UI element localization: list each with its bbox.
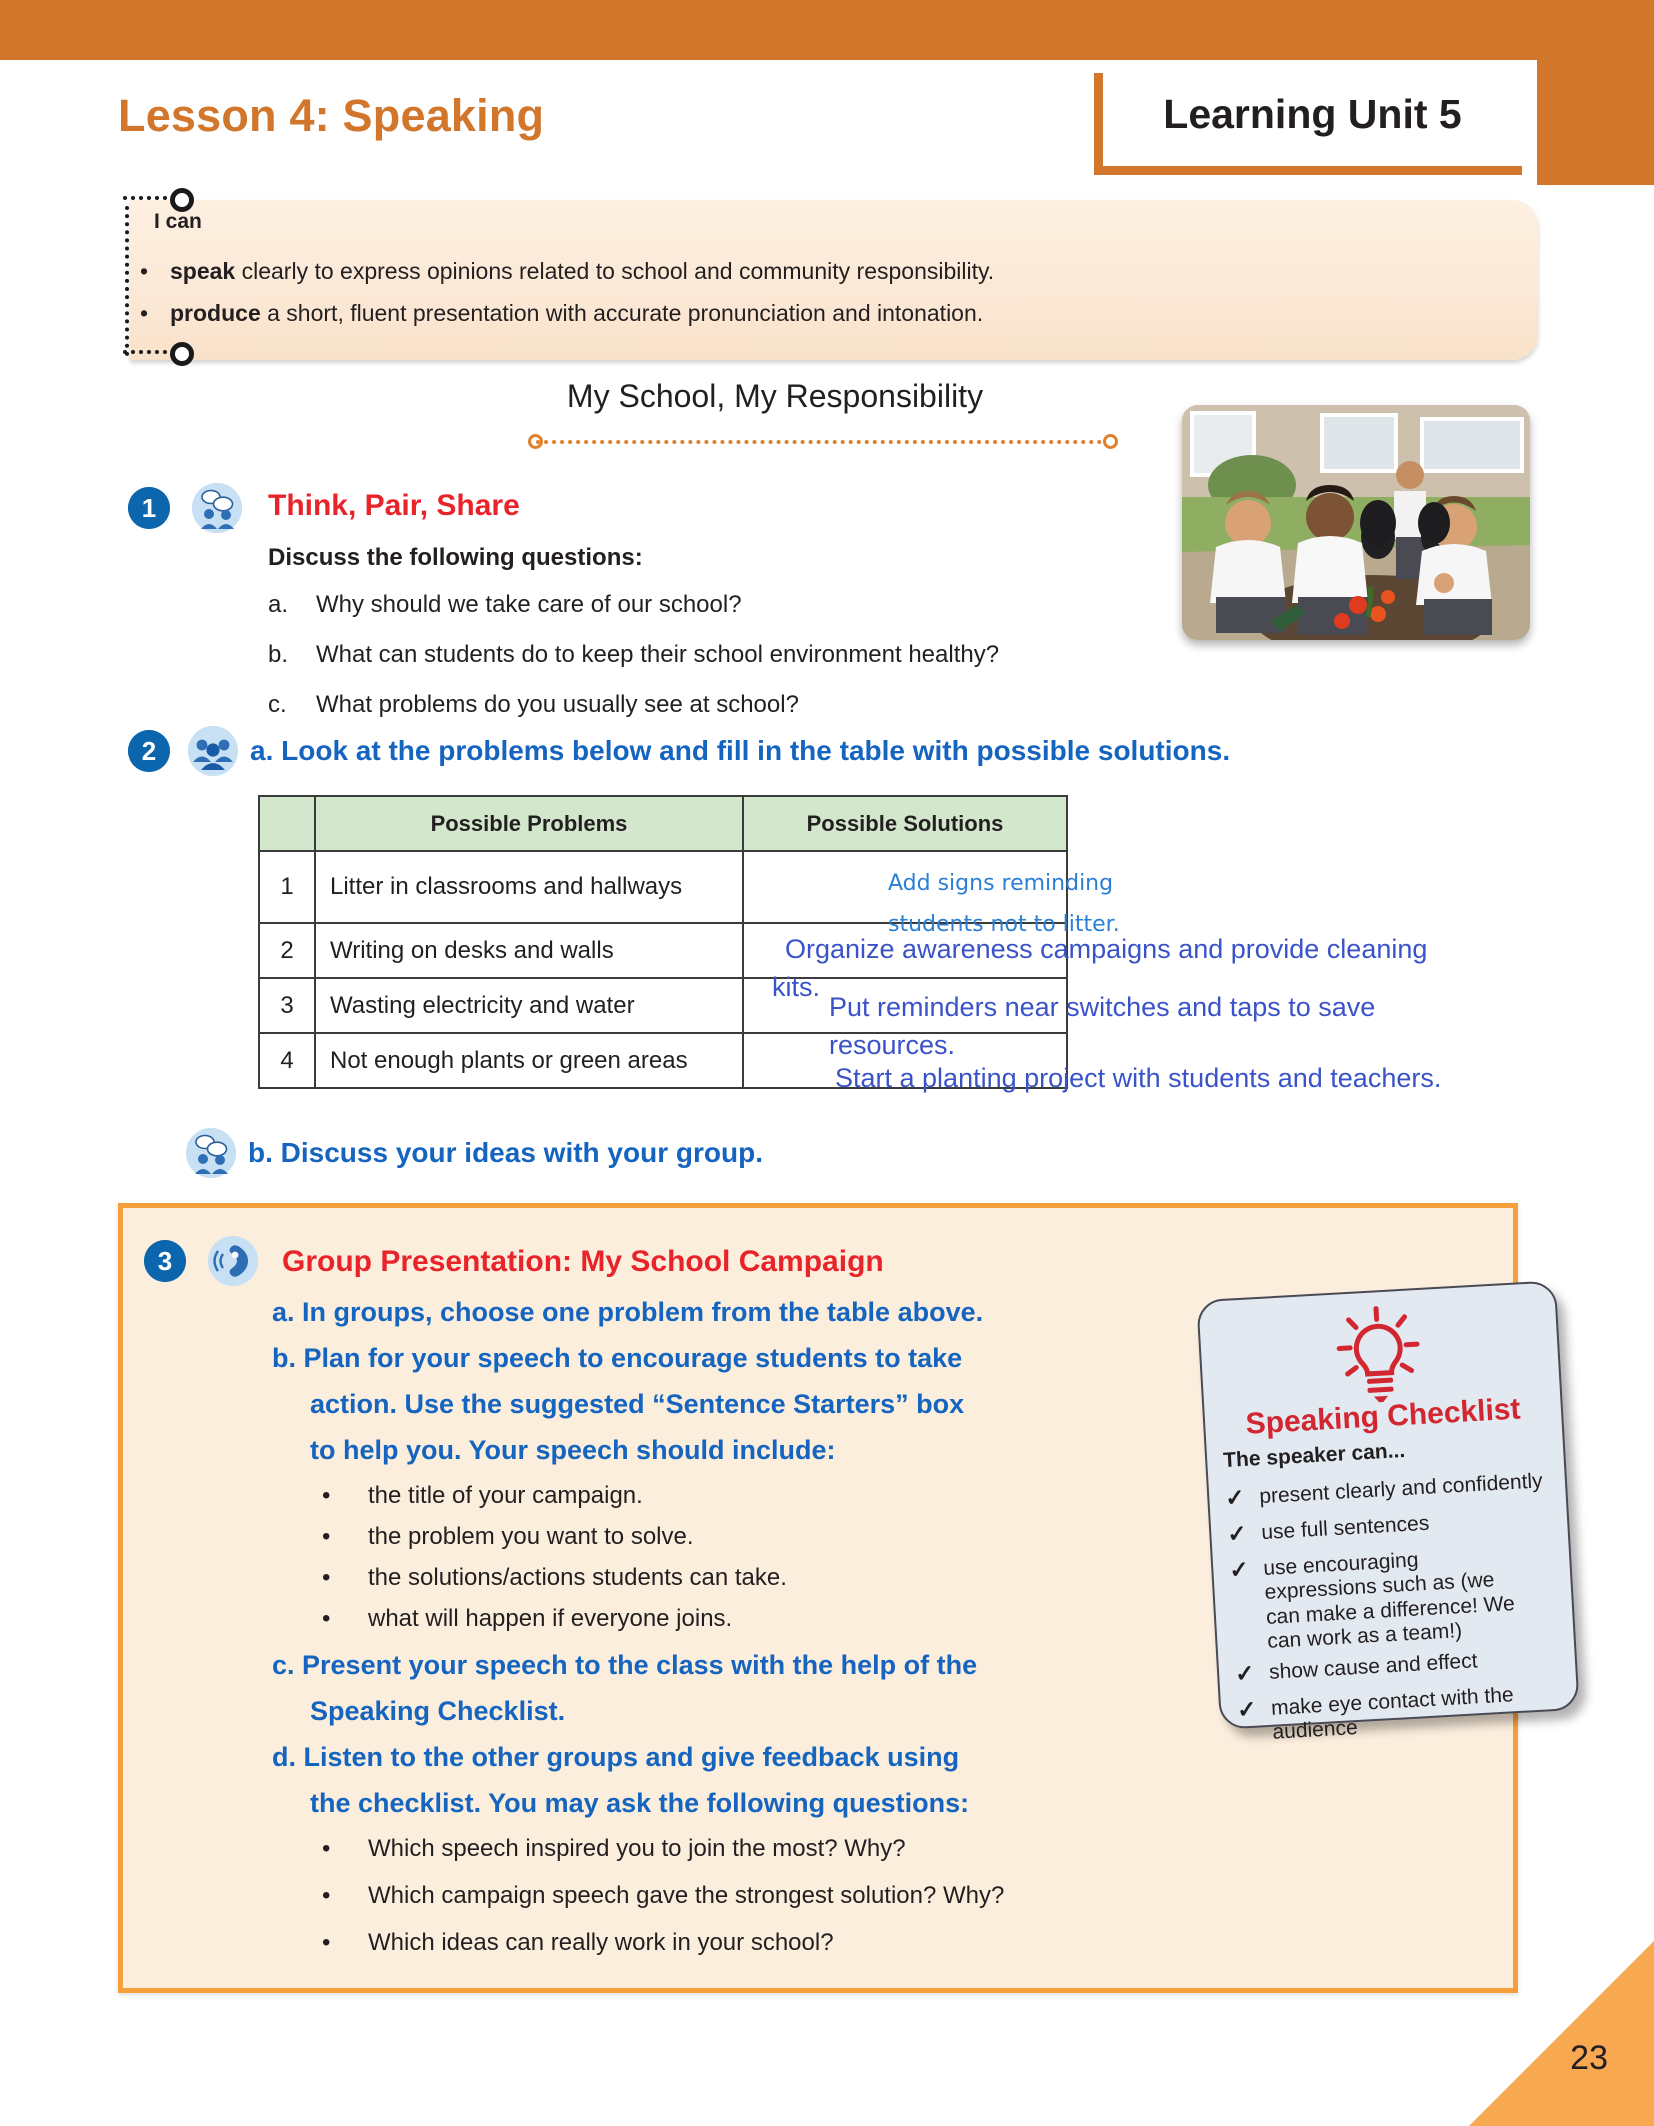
pair-discussion-icon bbox=[192, 483, 242, 533]
learning-unit-label: Learning Unit 5 bbox=[1103, 91, 1522, 138]
activity-3-bullet-b-0: the title of your campaign. bbox=[368, 1482, 643, 1510]
row-3-problem: Wasting electricity and water bbox=[315, 978, 743, 1033]
lightbulb-glyph bbox=[1311, 1303, 1446, 1406]
i-can-top-dotted-border bbox=[123, 196, 175, 200]
lightbulb-icon bbox=[1311, 1303, 1446, 1406]
row-1-index: 1 bbox=[259, 851, 315, 923]
bullet-glyph: • bbox=[322, 1882, 330, 1910]
question-letter-a: a. bbox=[268, 591, 288, 619]
question-text-c: What problems do you usually see at scho… bbox=[316, 691, 799, 719]
question-text-b: What can students do to keep their schoo… bbox=[316, 641, 999, 669]
bullet-glyph: • bbox=[322, 1564, 330, 1592]
activity-3-item-d-line-1: d. Listen to the other groups and give f… bbox=[272, 1742, 959, 1773]
activity-2-heading-a: a. Look at the problems below and fill i… bbox=[250, 735, 1230, 767]
checklist-item-0[interactable]: ✓ present clearly and confidently bbox=[1225, 1469, 1556, 1512]
speaking-checklist-card: Speaking Checklist The speaker can... ✓ … bbox=[1196, 1280, 1579, 1729]
photo-illustration bbox=[1182, 405, 1530, 640]
bullet-glyph: • bbox=[322, 1482, 330, 1510]
row-3-solution-cell[interactable] bbox=[743, 978, 1067, 1033]
table-row: 1 Litter in classrooms and hallways bbox=[259, 851, 1067, 923]
table-header-index bbox=[259, 796, 315, 851]
activity-1-heading: Think, Pair, Share bbox=[268, 489, 520, 523]
bullet-glyph: • bbox=[322, 1605, 330, 1633]
row-2-problem: Writing on desks and walls bbox=[315, 923, 743, 978]
activity-3-item-b-line-2: action. Use the suggested “Sentence Star… bbox=[310, 1389, 964, 1420]
table-header-problems: Possible Problems bbox=[315, 796, 743, 851]
group-icon bbox=[188, 726, 238, 776]
footer-corner-decoration bbox=[1469, 1941, 1654, 2126]
learning-unit-badge: Learning Unit 5 bbox=[1094, 73, 1522, 175]
checklist-item-0-label: present clearly and confidently bbox=[1225, 1469, 1556, 1512]
activity-1-number-badge: 1 bbox=[128, 487, 170, 529]
i-can-item-1-rest: a short, fluent presentation with accura… bbox=[261, 300, 983, 326]
checklist-item-1-label: use full sentences bbox=[1227, 1505, 1558, 1548]
i-can-bottom-ring-icon bbox=[170, 342, 194, 366]
question-letter-b: b. bbox=[268, 641, 288, 669]
activity-3-number-badge: 3 bbox=[144, 1240, 186, 1282]
table-header-row: Possible Problems Possible Solutions bbox=[259, 796, 1067, 851]
i-can-left-dotted-border bbox=[125, 206, 129, 356]
question-letter-c: c. bbox=[268, 691, 287, 719]
table-header-solutions: Possible Solutions bbox=[743, 796, 1067, 851]
activity-3-item-c-line-2: Speaking Checklist. bbox=[310, 1696, 565, 1727]
activity-3-item-a: a. In groups, choose one problem from th… bbox=[272, 1297, 983, 1328]
activity-3-bullet-d-1: Which campaign speech gave the strongest… bbox=[368, 1882, 1004, 1910]
activity-2-heading-b-bold: b. Discuss your ideas bbox=[248, 1137, 536, 1168]
divider-right-ring-icon bbox=[1103, 434, 1118, 449]
activity-2-heading-b-rest: with your group. bbox=[536, 1137, 763, 1168]
activity-3-bullet-d-0: Which speech inspired you to join the mo… bbox=[368, 1835, 906, 1863]
check-icon: ✓ bbox=[1229, 1556, 1250, 1584]
check-icon: ✓ bbox=[1236, 1696, 1257, 1724]
activity-3-bullet-b-3: what will happen if everyone joins. bbox=[368, 1605, 732, 1633]
students-gardening-photo bbox=[1182, 405, 1530, 640]
table-row: 3 Wasting electricity and water bbox=[259, 978, 1067, 1033]
row-3-index: 3 bbox=[259, 978, 315, 1033]
check-icon: ✓ bbox=[1227, 1520, 1248, 1548]
row-2-index: 2 bbox=[259, 923, 315, 978]
question-text-a: Why should we take care of our school? bbox=[316, 591, 742, 619]
bullet-glyph: • bbox=[322, 1835, 330, 1863]
checklist-item-2-label: use encouraging expressions such as (we … bbox=[1229, 1542, 1534, 1656]
checklist-item-1[interactable]: ✓ use full sentences bbox=[1227, 1505, 1558, 1548]
row-2-solution-cell[interactable] bbox=[743, 923, 1067, 978]
page-title: Lesson 4: Speaking bbox=[118, 90, 544, 142]
check-icon: ✓ bbox=[1225, 1484, 1246, 1512]
activity-3-bullet-d-2: Which ideas can really work in your scho… bbox=[368, 1929, 834, 1957]
divider-dotted-line bbox=[536, 440, 1110, 444]
bullet-glyph: • bbox=[140, 258, 170, 285]
speaking-icon bbox=[208, 1236, 258, 1286]
section-title: My School, My Responsibility bbox=[400, 378, 1150, 415]
table-row: 4 Not enough plants or green areas bbox=[259, 1033, 1067, 1088]
row-1-problem: Litter in classrooms and hallways bbox=[315, 851, 743, 923]
problems-solutions-table: Possible Problems Possible Solutions 1 L… bbox=[258, 795, 1068, 1089]
activity-3-item-b-line-3: to help you. Your speech should include: bbox=[310, 1435, 836, 1466]
i-can-item-0-bold: speak bbox=[170, 258, 235, 284]
bullet-glyph: • bbox=[322, 1523, 330, 1551]
i-can-box: I can •speak clearly to express opinions… bbox=[118, 200, 1538, 360]
bullet-glyph: • bbox=[140, 300, 170, 327]
i-can-top-ring-icon bbox=[170, 188, 194, 212]
activity-3-bullet-b-1: the problem you want to solve. bbox=[368, 1523, 694, 1551]
activity-3-bullet-b-2: the solutions/actions students can take. bbox=[368, 1564, 787, 1592]
check-icon: ✓ bbox=[1234, 1660, 1255, 1688]
page-number: 23 bbox=[1570, 2039, 1608, 2078]
decorative-divider bbox=[528, 434, 1118, 450]
table-row: 2 Writing on desks and walls bbox=[259, 923, 1067, 978]
pair-discussion-glyph bbox=[192, 483, 242, 533]
i-can-bottom-dotted-border bbox=[123, 350, 175, 354]
activity-3-item-b-line-1: b. Plan for your speech to encourage stu… bbox=[272, 1343, 962, 1374]
row-4-index: 4 bbox=[259, 1033, 315, 1088]
row-4-problem: Not enough plants or green areas bbox=[315, 1033, 743, 1088]
i-can-item-1: •produce a short, fluent presentation wi… bbox=[140, 300, 983, 327]
group-glyph bbox=[188, 726, 238, 776]
activity-3-item-d-line-2: the checklist. You may ask the following… bbox=[310, 1788, 969, 1819]
activity-3-heading: Group Presentation: My School Campaign bbox=[282, 1245, 884, 1279]
i-can-title: I can bbox=[154, 210, 202, 234]
row-4-solution-cell[interactable] bbox=[743, 1033, 1067, 1088]
speaking-glyph bbox=[208, 1236, 258, 1286]
bullet-glyph: • bbox=[322, 1929, 330, 1957]
checklist-subtitle: The speaker can... bbox=[1223, 1439, 1406, 1473]
activity-2-number-badge: 2 bbox=[128, 730, 170, 772]
i-can-item-0: •speak clearly to express opinions relat… bbox=[140, 258, 994, 285]
activity-1-instruction: Discuss the following questions: bbox=[268, 544, 643, 572]
row-1-solution-cell[interactable] bbox=[743, 851, 1067, 923]
activity-2-heading-b: b. Discuss your ideas with your group. bbox=[248, 1137, 763, 1169]
checklist-item-2[interactable]: ✓ use encouraging expressions such as (w… bbox=[1229, 1542, 1534, 1656]
pair-discussion-glyph bbox=[186, 1128, 236, 1178]
i-can-item-1-bold: produce bbox=[170, 300, 261, 326]
i-can-item-0-rest: clearly to express opinions related to s… bbox=[235, 258, 994, 284]
activity-3-item-c-line-1: c. Present your speech to the class with… bbox=[272, 1650, 977, 1681]
pair-discussion-icon bbox=[186, 1128, 236, 1178]
